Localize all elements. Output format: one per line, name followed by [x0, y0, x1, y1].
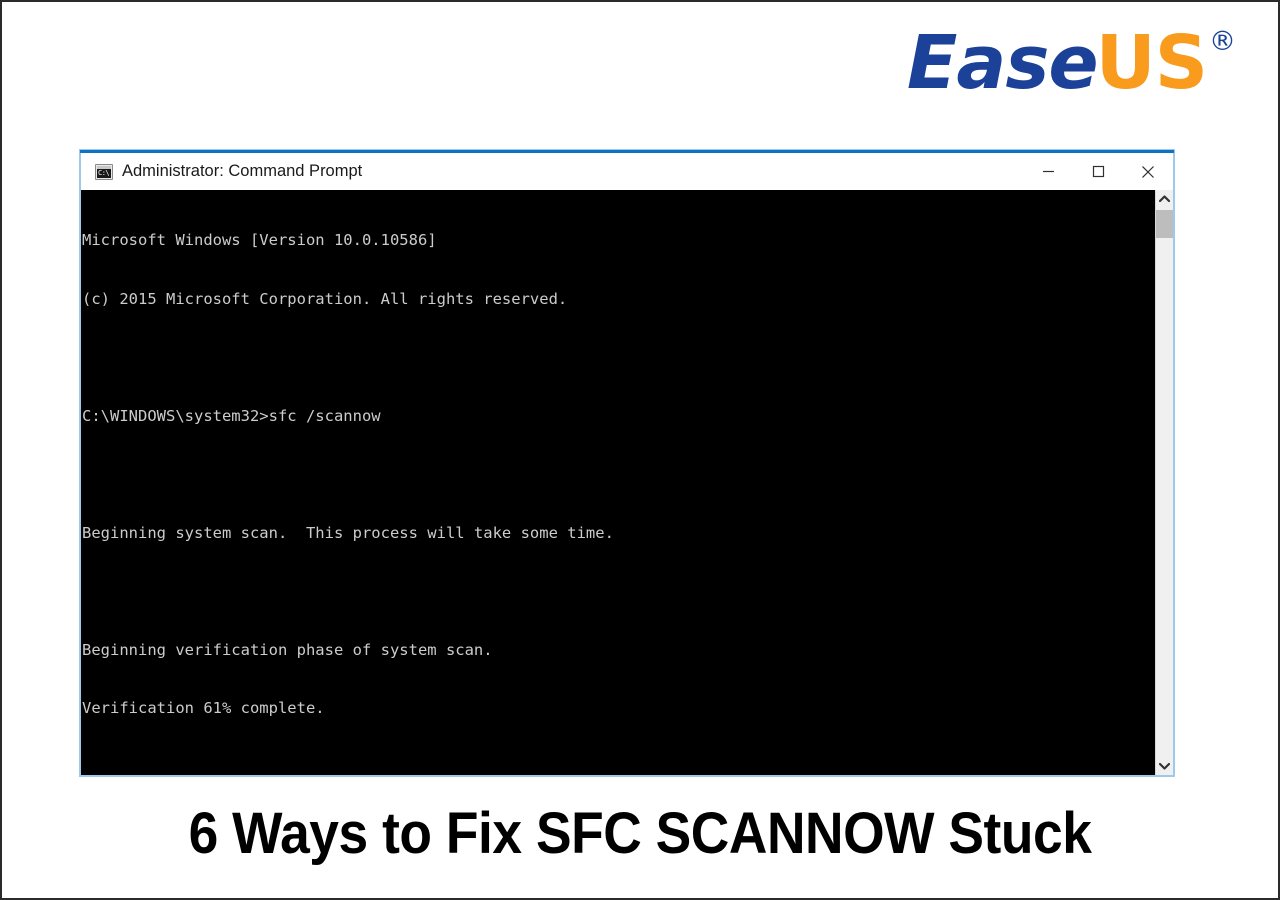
command-prompt-window: C:\ Administrator: Command Prompt — [80, 150, 1174, 776]
console-output: Microsoft Windows [Version 10.0.10586] (… — [81, 190, 1155, 775]
icon-screen-glyph: C:\ — [97, 169, 111, 178]
console-scrollbar[interactable] — [1155, 190, 1173, 775]
console-line: Microsoft Windows [Version 10.0.10586] — [82, 231, 1155, 251]
logo-text-ease: Ease — [907, 26, 1098, 100]
scroll-up-icon[interactable] — [1156, 190, 1173, 208]
window-titlebar[interactable]: C:\ Administrator: Command Prompt — [80, 153, 1174, 190]
console-line: Beginning verification phase of system s… — [82, 641, 1155, 661]
scrollbar-thumb[interactable] — [1156, 210, 1173, 238]
easeus-logo: Ease US ® — [907, 26, 1236, 100]
page-root: Ease US ® C:\ Administrator: Command Pro… — [0, 0, 1280, 900]
console-line — [82, 348, 1155, 368]
close-button[interactable] — [1123, 153, 1173, 190]
command-prompt-icon: C:\ — [95, 164, 113, 180]
console-line: C:\WINDOWS\system32>sfc /scannow — [82, 407, 1155, 427]
minimize-button[interactable] — [1023, 153, 1073, 190]
console-line — [82, 465, 1155, 485]
window-title: Administrator: Command Prompt — [122, 162, 362, 181]
console-line: Verification 61% complete. — [82, 699, 1155, 719]
console-line — [82, 582, 1155, 602]
scrollbar-track[interactable] — [1156, 208, 1173, 757]
maximize-button[interactable] — [1073, 153, 1123, 190]
logo-text-us: US — [1096, 26, 1207, 100]
console-body[interactable]: Microsoft Windows [Version 10.0.10586] (… — [80, 190, 1174, 776]
page-title: 6 Ways to Fix SFC SCANNOW Stuck — [53, 800, 1227, 867]
registered-trademark-icon: ® — [1209, 28, 1236, 55]
scroll-down-icon[interactable] — [1156, 757, 1173, 775]
window-controls — [1023, 153, 1173, 190]
console-line: Beginning system scan. This process will… — [82, 524, 1155, 544]
console-line — [82, 758, 1155, 776]
console-line: (c) 2015 Microsoft Corporation. All righ… — [82, 290, 1155, 310]
